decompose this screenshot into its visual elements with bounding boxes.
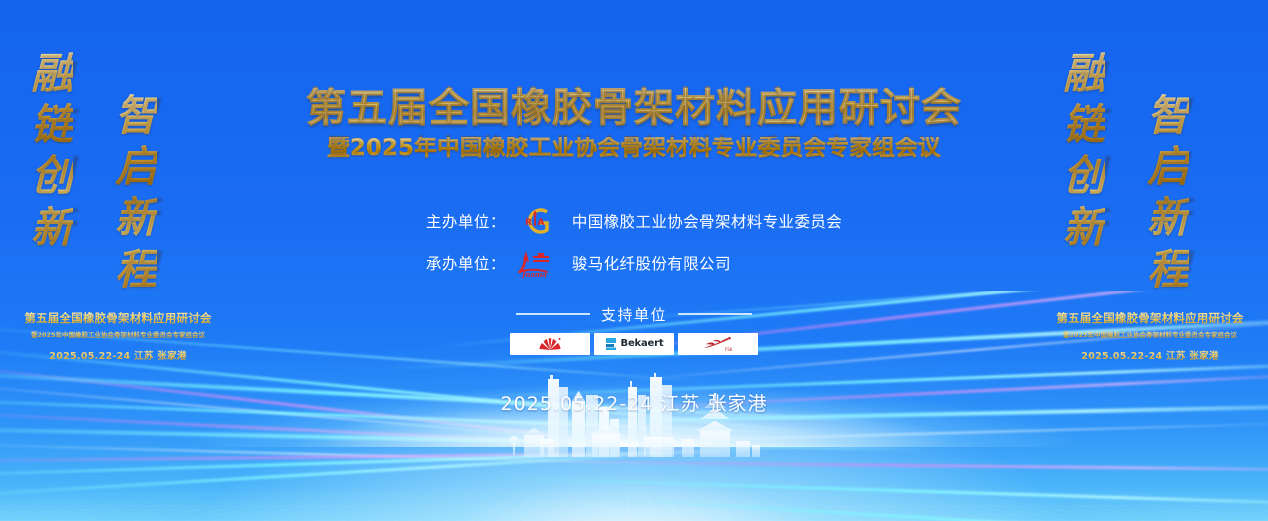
calligraphy-char: 程 — [115, 244, 157, 295]
calligraphy-char: 新 — [31, 202, 73, 253]
organizer-label: 承办单位： — [426, 252, 506, 274]
date-location: 2025.05.22-24 江苏 张家港 — [501, 389, 768, 416]
svg-text:R: R — [525, 218, 532, 228]
calligraphy-char: 融 — [1063, 48, 1105, 99]
side-date: 2025.05.22-24 江苏 张家港 — [0, 348, 236, 362]
sunburst-logo — [510, 333, 590, 355]
calligraphy-left: 融 链 创 新 智 启 新 程 — [23, 40, 213, 302]
calligraphy-char: 智 — [1147, 90, 1189, 141]
calligraphy-char: 新 — [115, 192, 157, 243]
calligraphy-char: 新 — [1147, 192, 1189, 243]
banner-center-content: 第五届全国橡胶骨架材料应用研讨会 暨2025年中国橡胶工业协会骨架材料专业委员会… — [236, 0, 1032, 521]
main-title: 第五届全国橡胶骨架材料应用研讨会 — [306, 88, 962, 128]
calligraphy-column-2: 智 启 新 程 — [115, 90, 157, 295]
support-heading-row: 支持单位 — [516, 304, 752, 325]
conference-banner: 融 链 创 新 智 启 新 程 第五届全国橡胶骨架材料应用研讨会 暨2025年中… — [0, 0, 1268, 521]
side-panel-right: 融 链 创 新 智 启 新 程 第五届全国橡胶骨架材料应用研讨会 暨2025年中… — [1032, 0, 1268, 521]
side-title-right: 第五届全国橡胶骨架材料应用研讨会 暨2025年中国橡胶工业协会骨架材料专业委员会… — [1032, 310, 1268, 362]
svg-text:Jnama: Jnama — [520, 270, 547, 278]
side-title-sub: 暨2025年中国橡胶工业协会骨架材料专业委员会专家组会议 — [0, 329, 236, 339]
svg-text:A: A — [537, 218, 544, 228]
sub-title: 暨2025年中国橡胶工业协会骨架材料专业委员会专家组会议 — [327, 137, 941, 160]
organizer-row: 承办单位： Jnama 骏马化纤股份有限公司 — [426, 248, 842, 278]
calligraphy-column-2: 智 启 新 程 — [1147, 90, 1189, 295]
calligraphy-char: 创 — [1063, 150, 1105, 201]
calligraphy-char: 链 — [31, 99, 73, 150]
side-title-left: 第五届全国橡胶骨架材料应用研讨会 暨2025年中国橡胶工业协会骨架材料专业委员会… — [0, 310, 236, 362]
cria-logo: R A — [510, 206, 566, 236]
calligraphy-column-1: 融 链 创 新 — [1063, 48, 1105, 253]
support-units-block: 支持单位 — [510, 304, 758, 355]
organizer-row: 主办单位： R A 中国橡胶工业协会骨架材料专业委员会 — [426, 206, 842, 236]
side-date: 2025.05.22-24 江苏 张家港 — [1032, 348, 1268, 362]
organizer-label: 主办单位： — [426, 210, 506, 232]
calligraphy-char: 融 — [31, 48, 73, 99]
calligraphy-column-1: 融 链 创 新 — [31, 48, 73, 253]
calligraphy-char: 创 — [31, 150, 73, 201]
svg-text:FSK: FSK — [725, 347, 733, 352]
divider-line-right — [678, 313, 752, 315]
organizers-block: 主办单位： R A 中国橡胶工业协会骨架材料专业委员会 承办单位： — [426, 206, 842, 278]
sponsor-logo-strip: Bekaert FSK — [510, 333, 758, 355]
calligraphy-char: 启 — [115, 141, 157, 192]
organizer-name: 骏马化纤股份有限公司 — [572, 252, 731, 274]
bekaert-logo: Bekaert — [594, 333, 674, 355]
junma-logo: Jnama — [510, 248, 566, 278]
divider-line-left — [516, 313, 590, 315]
support-heading: 支持单位 — [601, 304, 667, 325]
bekaert-label: Bekaert — [621, 338, 664, 349]
calligraphy-char: 启 — [1147, 141, 1189, 192]
calligraphy-char: 智 — [115, 90, 157, 141]
calligraphy-char: 链 — [1063, 99, 1105, 150]
side-title-main: 第五届全国橡胶骨架材料应用研讨会 — [0, 310, 236, 326]
calligraphy-right: 融 链 创 新 智 启 新 程 — [1055, 40, 1245, 302]
organizer-name: 中国橡胶工业协会骨架材料专业委员会 — [572, 210, 842, 232]
side-panel-left: 融 链 创 新 智 启 新 程 第五届全国橡胶骨架材料应用研讨会 暨2025年中… — [0, 0, 236, 521]
side-title-sub: 暨2025年中国橡胶工业协会骨架材料专业委员会专家组会议 — [1032, 329, 1268, 339]
calligraphy-char: 程 — [1147, 244, 1189, 295]
side-title-main: 第五届全国橡胶骨架材料应用研讨会 — [1032, 310, 1268, 326]
eagle-logo: FSK — [678, 333, 758, 355]
calligraphy-char: 新 — [1063, 202, 1105, 253]
